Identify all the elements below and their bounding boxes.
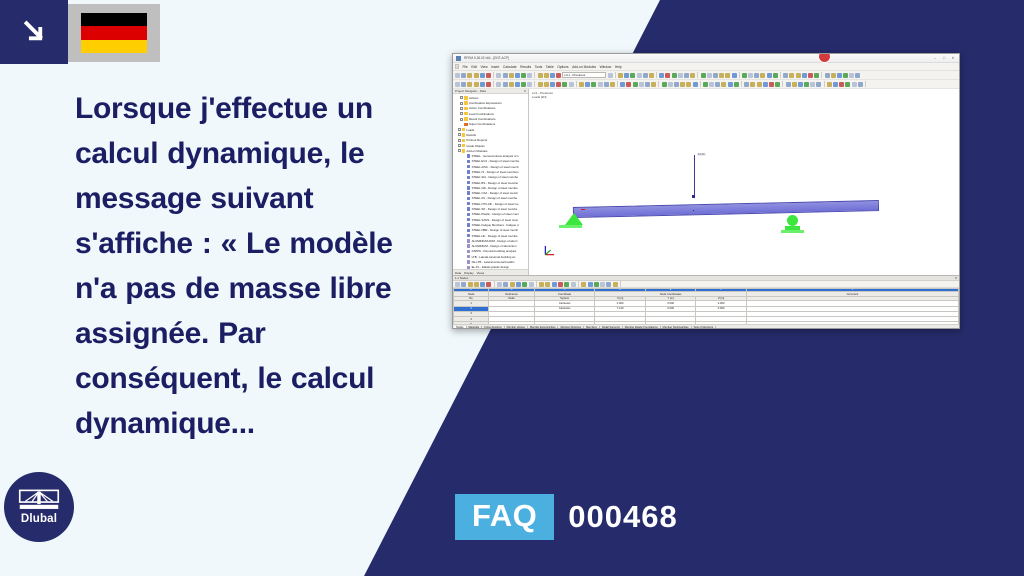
toolbar-icon-53[interactable]	[769, 82, 774, 87]
faq-number: 000468	[568, 500, 677, 534]
navigator-item-label: Super Combinations	[469, 122, 495, 126]
page-title: Lorsque j'effectue un calcul dynamique, …	[75, 86, 430, 446]
menu-item-results[interactable]: Results	[520, 65, 531, 69]
table-tab-cross-sections[interactable]: Cross-Sections	[482, 326, 505, 329]
toolbar-icon-10[interactable]	[515, 73, 520, 78]
load-arrow-shaft	[694, 155, 695, 197]
toolbar-icon-39[interactable]	[725, 73, 730, 78]
toolbar-icon-0[interactable]	[455, 73, 460, 78]
toolbar-icon-30[interactable]	[633, 82, 638, 87]
toolbar-icon-29[interactable]	[626, 82, 631, 87]
minimize-button[interactable]: –	[932, 55, 938, 61]
faq-footer: FAQ 000468	[455, 494, 678, 540]
toolbar-icon-15[interactable]	[544, 82, 549, 87]
toolbar-separator	[617, 81, 618, 87]
toolbar-icon-43[interactable]	[709, 82, 714, 87]
toolbar-separator	[782, 81, 783, 87]
table-grid[interactable]: ABCDEFF NodeReferenceCoordinateNode Coor…	[453, 288, 959, 324]
toolbar-icon-17[interactable]	[556, 82, 561, 87]
navigator-item-label: ALUMINIUM - Design of aluminium	[472, 244, 517, 248]
navigator-item-label: STEEL SANS - Design of steel mem	[472, 218, 519, 222]
toolbar-icon-1[interactable]	[461, 73, 466, 78]
toolbar-icon-15[interactable]	[545, 282, 550, 287]
navigator-item-icon	[467, 176, 470, 179]
toolbar-icon-44[interactable]	[715, 82, 720, 87]
toolbar-icon-8[interactable]	[503, 82, 508, 87]
toolbar-icon-4[interactable]	[480, 82, 485, 87]
toolbar-icon-14[interactable]	[538, 73, 543, 78]
table-tab-member-hinges[interactable]: Member Hinges	[505, 326, 528, 329]
toolbar-icon-54[interactable]	[814, 73, 819, 78]
toolbar-icon-9[interactable]	[509, 73, 514, 78]
toolbar-icon-16[interactable]	[552, 282, 557, 287]
expand-toggle-icon[interactable]	[460, 107, 463, 110]
navigator-item-icon	[462, 149, 465, 152]
navigator-item-icon	[467, 218, 470, 221]
navigator-item-icon	[467, 186, 470, 189]
toolbar-icon-31[interactable]	[678, 73, 683, 78]
toolbar-icon-11[interactable]	[521, 82, 526, 87]
navigator-item-icon	[467, 202, 470, 205]
toolbar-icon-1[interactable]	[461, 282, 466, 287]
toolbar-icon-5[interactable]	[486, 73, 491, 78]
navigator-item-label: STEEL Fatigue Members - Fatigue d	[472, 223, 519, 227]
navigator-item-icon	[464, 96, 467, 99]
menu-item-window[interactable]: Window	[600, 65, 612, 69]
table-close-icon[interactable]: ✕	[955, 276, 957, 280]
toolbar-icon-38[interactable]	[719, 73, 724, 78]
toolbar-icon-21[interactable]	[618, 73, 623, 78]
navigator-item-icon	[467, 255, 470, 258]
toolbar-icon-56[interactable]	[786, 82, 791, 87]
toolbar-icon-12[interactable]	[527, 73, 532, 78]
navigator-item-label: STEEL NBR - Design of steel memb	[472, 228, 518, 232]
expand-toggle-icon[interactable]	[460, 102, 463, 105]
toolbar-icon-23[interactable]	[591, 82, 596, 87]
toolbar-icon-63[interactable]	[827, 82, 832, 87]
toolbar-separator	[824, 81, 825, 87]
navigator-item-label: Result Combinations	[469, 117, 496, 121]
arrow-down-right-icon	[19, 17, 49, 47]
close-button[interactable]: ✕	[950, 55, 956, 61]
toolbar-icon-14[interactable]	[538, 82, 543, 87]
navigator-item-label: STEEL Plastic - Design of steel mem	[472, 212, 519, 216]
toolbar-icon-67[interactable]	[852, 82, 857, 87]
navigator-item-label: STEEL EC3 - Design of steel membe	[472, 159, 520, 163]
toolbar-icon-35[interactable]	[662, 82, 667, 87]
menu-item-table[interactable]: Table	[546, 65, 554, 69]
navigator-item-icon	[467, 197, 470, 200]
toolbar-icon-4[interactable]	[480, 282, 485, 287]
toolbar-icon-26[interactable]	[649, 73, 654, 78]
toolbar-icon-17[interactable]	[558, 282, 563, 287]
table-body: 1Cartesian0.0000.0000.0002Cartesian7.140…	[454, 301, 959, 324]
toolbar-icon-33[interactable]	[690, 73, 695, 78]
navigator-item-label: Action Combinations	[469, 106, 496, 110]
toolbar-separator	[821, 72, 822, 78]
toolbar-separator	[534, 81, 535, 87]
toolbar-icon-19[interactable]	[608, 73, 613, 78]
toolbar-icon-12[interactable]	[529, 282, 534, 287]
navigator-item-icon	[467, 260, 470, 263]
toolbar-icon-46[interactable]	[767, 73, 772, 78]
load-arrow-head	[692, 195, 695, 198]
toolbar-icon-51[interactable]	[796, 73, 801, 78]
toolbar-icon-31[interactable]	[639, 82, 644, 87]
menu-item-insert[interactable]: Insert	[491, 65, 499, 69]
toolbar-icon-16[interactable]	[550, 73, 555, 78]
expand-toggle-icon[interactable]	[460, 96, 463, 99]
navigator-item-icon	[467, 234, 470, 237]
table-tab-member-elastic-foundations[interactable]: Member Elastic Foundations	[623, 326, 661, 329]
german-flag-icon	[81, 13, 147, 53]
toolbar-icon-37[interactable]	[713, 73, 718, 78]
toolbar-icon-37[interactable]	[674, 82, 679, 87]
navigator-item-icon	[462, 139, 465, 142]
app-icon	[456, 56, 461, 61]
toolbar-icon-42[interactable]	[742, 73, 747, 78]
toolbar-separator	[576, 81, 577, 87]
toolbar-icon-7[interactable]	[496, 73, 501, 78]
toolbar-icon-11[interactable]	[521, 73, 526, 78]
navigator-item-icon	[467, 160, 470, 163]
toolbar-icon-19[interactable]	[569, 82, 574, 87]
expand-toggle-icon[interactable]	[460, 118, 463, 121]
table-tab-members[interactable]: Members	[584, 326, 600, 329]
table-tabs: NodesMaterialsCross-SectionsMember Hinge…	[453, 324, 959, 329]
nodal-support-left[interactable]	[565, 213, 583, 225]
window-titlebar: RFEM 5.26.02 x64 - [ENT-ACP] – □ ✕	[453, 54, 959, 63]
navigator-item-label: LTB - Lateral-torsional buckling an	[472, 255, 516, 259]
navigator-item-icon	[467, 181, 470, 184]
toolbar-icon-30[interactable]	[672, 73, 677, 78]
toolbar-icon-24[interactable]	[600, 282, 605, 287]
nodes-table: ABCDEFF NodeReferenceCoordinateNode Coor…	[453, 288, 959, 324]
toolbar-separator	[700, 81, 701, 87]
coordinate-axes-icon	[543, 243, 557, 257]
toolbar-icon-49[interactable]	[744, 82, 749, 87]
toolbar-icon-9[interactable]	[510, 282, 515, 287]
dlubal-logo[interactable]: Dlubal	[4, 472, 74, 542]
navigator-item-icon	[467, 191, 470, 194]
toolbar-icon-53[interactable]	[808, 73, 813, 78]
toolbar-icon-7[interactable]	[497, 282, 502, 287]
toolbar-separator	[534, 72, 535, 78]
navigator-tab-views[interactable]: Views	[477, 271, 485, 275]
toolbar-icon-16[interactable]	[550, 82, 555, 87]
toolbar-separator	[741, 81, 742, 87]
toolbar-icon-43[interactable]	[748, 73, 753, 78]
project-navigator: Project Navigator - Data ✕ ActionsCombin…	[453, 89, 529, 275]
toolbar-icon-51[interactable]	[757, 82, 762, 87]
table-tab-sets-of-members[interactable]: Sets of Members	[692, 326, 717, 329]
toolbar-icon-46[interactable]	[728, 82, 733, 87]
navigator-item-icon	[467, 207, 470, 210]
toolbar-icon-17[interactable]	[556, 73, 561, 78]
toolbar-icon-59[interactable]	[804, 82, 809, 87]
nodal-support-right[interactable]	[787, 215, 804, 233]
toolbar-icon-29[interactable]	[665, 73, 670, 78]
navigator-item-label: ALUMINIUM ADM - Design of alumi	[472, 239, 518, 243]
toolbar-icon-23[interactable]	[630, 73, 635, 78]
expand-toggle-icon[interactable]	[458, 149, 461, 152]
toolbar-icon-5[interactable]	[486, 82, 491, 87]
toolbar-icon-33[interactable]	[651, 82, 656, 87]
navigator-item-label: Results	[466, 133, 476, 137]
toolbar-icon-3[interactable]	[474, 82, 479, 87]
toolbar-icon-50[interactable]	[750, 82, 755, 87]
toolbar-icon-47[interactable]	[773, 73, 778, 78]
navigator-item-icon	[467, 223, 470, 226]
navigator-item-label: STEEL - General stress analysis of s	[472, 154, 519, 158]
toolbar-icon-5[interactable]	[486, 282, 491, 287]
toolbar-icon-8[interactable]	[503, 282, 508, 287]
menu-item-options[interactable]: Options	[557, 65, 568, 69]
toolbar-icon-2[interactable]	[467, 82, 472, 87]
toolbar-icon-56[interactable]	[825, 73, 830, 78]
navigator-tree[interactable]: ActionsCombination ExpressionsAction Com…	[453, 94, 528, 269]
model-canvas[interactable]: LC1 - Prestress Loads [kN] 10.00	[529, 89, 959, 275]
toolbar-icon-32[interactable]	[684, 73, 689, 78]
toolbar-icon-44[interactable]	[754, 73, 759, 78]
toolbar-icon-3[interactable]	[474, 73, 479, 78]
toolbar-icon-23[interactable]	[594, 282, 599, 287]
toolbar-icon-58[interactable]	[798, 82, 803, 87]
navigator-item-icon	[464, 123, 467, 126]
flag-band-red	[81, 26, 147, 39]
table-panel: 1.1 Nodes ✕ ABCDEFF NodeReferenceCoordin…	[453, 275, 959, 329]
member-orientation-marker	[581, 209, 585, 210]
navigator-item-icon	[464, 101, 467, 104]
flag-band-gold	[81, 40, 147, 53]
navigator-item-label: STEEL SIA - Design of steel membe	[472, 175, 518, 179]
toolbar-separator	[494, 281, 495, 287]
toolbar-icon-25[interactable]	[604, 82, 609, 87]
toolbar-icon-28[interactable]	[620, 82, 625, 87]
toolbar-icon-24[interactable]	[637, 73, 642, 78]
toolbar-icon-22[interactable]	[624, 73, 629, 78]
navigator-item-icon	[467, 213, 470, 216]
navigator-item-icon	[467, 154, 470, 157]
toolbar-icon-4[interactable]	[480, 73, 485, 78]
toolbar-icon-61[interactable]	[855, 73, 860, 78]
toolbar-icon-12[interactable]	[527, 82, 532, 87]
table-tab-member-nonlinearities[interactable]: Member Nonlinearities	[661, 326, 692, 329]
toolbar-icon-1[interactable]	[461, 82, 466, 87]
toolbar-icon-36[interactable]	[668, 82, 673, 87]
navigator-item-icon	[462, 133, 465, 136]
toolbar-icon-40[interactable]	[693, 82, 698, 87]
toolbar-separator	[697, 72, 698, 78]
navigator-item-label: Load Combinations	[469, 112, 494, 116]
flag-band-black	[81, 13, 147, 26]
menu-grip[interactable]	[455, 64, 459, 69]
toolbar-separator	[780, 72, 781, 78]
menu-item-edit[interactable]: Edit	[471, 65, 477, 69]
navigator-close-icon[interactable]: ✕	[524, 89, 526, 93]
toolbar-icon-2[interactable]	[468, 282, 473, 287]
toolbar-icon-18[interactable]	[562, 82, 567, 87]
expand-toggle-icon[interactable]	[458, 128, 461, 131]
navigator-item-label: STEEL SP - Design of steel membe	[472, 207, 518, 211]
expand-toggle-icon[interactable]	[458, 133, 461, 136]
navigator-item-label: STEEL IS - Design of steel members	[472, 170, 519, 174]
toolbar-icon-10[interactable]	[515, 82, 520, 87]
toolbar-icon-2[interactable]	[467, 73, 472, 78]
navigator-item-label: Actions	[469, 96, 478, 100]
navigator-item-icon	[462, 144, 465, 147]
toolbar-separator	[865, 81, 866, 87]
toolbar-separator	[615, 72, 616, 78]
toolbar-icon-57[interactable]	[792, 82, 797, 87]
navigator-item-icon	[467, 244, 470, 247]
logo-text: Dlubal	[21, 513, 57, 525]
navigator-item-icon	[467, 239, 470, 242]
toolbar-icon-54[interactable]	[775, 82, 780, 87]
table-tab-materials[interactable]: Materials	[467, 326, 483, 329]
toolbar-icon-21[interactable]	[581, 282, 586, 287]
navigator-item-icon	[464, 112, 467, 115]
toolbar-icon-25[interactable]	[606, 282, 611, 287]
toolbar-icon-9[interactable]	[509, 82, 514, 87]
toolbar-icon-22[interactable]	[585, 82, 590, 87]
toolbar-icon-28[interactable]	[659, 73, 664, 78]
toolbar-separator	[656, 72, 657, 78]
navigator-item-icon	[467, 170, 470, 173]
toolbar-icon-32[interactable]	[645, 82, 650, 87]
toolbar-icon-25[interactable]	[643, 73, 648, 78]
menu-item-view[interactable]: View	[481, 65, 488, 69]
toolbar-icon-50[interactable]	[789, 73, 794, 78]
toolbar-icon-57[interactable]	[831, 73, 836, 78]
rfem-application-window: RFEM 5.26.02 x64 - [ENT-ACP] – □ ✕ FileE…	[452, 53, 960, 329]
toolbar-icon-14[interactable]	[539, 282, 544, 287]
toolbar-icon-11[interactable]	[522, 282, 527, 287]
toolbar-icon-36[interactable]	[707, 73, 712, 78]
navigator-item-label: STEEL AISC - Design of steel memb	[472, 165, 519, 169]
load-value-label: 10.00	[697, 153, 706, 156]
navigator-item-label: STEEL GB - Design of steel membe	[472, 186, 518, 190]
toolbar-icon-64[interactable]	[833, 82, 838, 87]
toolbar-icon-59[interactable]	[843, 73, 848, 78]
window-title: RFEM 5.26.02 x64 - [ENT-ACP]	[464, 56, 509, 60]
canvas-loadcase-label: LC1 - Prestress Loads [kN]	[532, 91, 553, 99]
table-tab-member-eccentricities[interactable]: Member Eccentricities	[528, 326, 559, 329]
toolbar-icon-7[interactable]	[496, 82, 501, 87]
navigator-item-label: STEEL HK - Design of steel membe	[472, 234, 518, 238]
navigator-item-label: STEEL NTC-DF - Design of steel me	[472, 202, 519, 206]
toolbar-icon-8[interactable]	[503, 73, 508, 78]
menu-item-file[interactable]: File	[463, 65, 468, 69]
table-head: ABCDEFF NodeReferenceCoordinateNode Coor…	[454, 289, 959, 301]
navigator-item-icon	[464, 117, 467, 120]
toolbar-icon-66[interactable]	[845, 82, 850, 87]
toolbar-icon-0[interactable]	[455, 282, 460, 287]
toolbar-icon-42[interactable]	[703, 82, 708, 87]
toolbar-icon-3[interactable]	[474, 282, 479, 287]
loadcase-combobox[interactable]: LC1 - Prestress	[562, 72, 606, 78]
toolbar-icon-58[interactable]	[837, 73, 842, 78]
download-arrow-badge[interactable]	[0, 0, 68, 64]
toolbar-separator	[658, 81, 659, 87]
toolbar-icon-65[interactable]	[839, 82, 844, 87]
toolbar-icon-40[interactable]	[732, 73, 737, 78]
toolbar-icon-52[interactable]	[763, 82, 768, 87]
beam-member[interactable]	[573, 200, 879, 218]
canvas-label-line2: Loads [kN]	[532, 95, 553, 99]
expand-toggle-icon[interactable]	[458, 144, 461, 147]
expand-toggle-icon[interactable]	[458, 139, 461, 142]
truss-icon	[18, 489, 60, 511]
toolbar-icon-38[interactable]	[680, 82, 685, 87]
menu-item-help[interactable]: Help	[615, 65, 622, 69]
toolbar-icon-49[interactable]	[783, 73, 788, 78]
support-base	[781, 230, 804, 233]
toolbar-icon-60[interactable]	[849, 73, 854, 78]
navigator-tab-display[interactable]: Display	[464, 271, 473, 275]
navigator-tab-data[interactable]: Data	[455, 271, 461, 275]
toolbar-icon-24[interactable]	[598, 82, 603, 87]
navigator-item-icon	[464, 107, 467, 110]
navigator-item-label: Combination Expressions	[469, 101, 502, 105]
toolbar-icon-18[interactable]	[564, 282, 569, 287]
toolbar-icon-26[interactable]	[613, 282, 618, 287]
toolbar-icon-45[interactable]	[760, 73, 765, 78]
menu-item-calculate[interactable]: Calculate	[503, 65, 517, 69]
table-toolbar	[453, 281, 959, 288]
navigator-item-icon	[467, 250, 470, 253]
table-tab-nodal-supports[interactable]: Nodal Supports	[600, 326, 623, 329]
maximize-button[interactable]: □	[941, 55, 947, 61]
menu-bar: FileEditViewInsertCalculateResultsToolsT…	[453, 63, 959, 71]
table-title: 1.1 Nodes	[455, 276, 468, 280]
toolbar-icon-52[interactable]	[802, 73, 807, 78]
navigator-tabs: DataDisplayViews	[453, 269, 528, 275]
toolbar-icon-21[interactable]	[579, 82, 584, 87]
toolbar-icon-19[interactable]	[571, 282, 576, 287]
navigator-item-label: KAPPA - Flexural buckling analysis	[472, 249, 517, 253]
toolbar-separator	[493, 72, 494, 78]
toolbar-icon-15[interactable]	[544, 73, 549, 78]
table-tab-nodes[interactable]: Nodes	[454, 326, 467, 329]
toolbar-icon-35[interactable]	[701, 73, 706, 78]
nodal-support-left-base	[559, 225, 582, 228]
toolbar-icon-45[interactable]	[721, 82, 726, 87]
navigator-item-label: STEEL AS - Design of steel membe	[472, 196, 518, 200]
navigator-item-label: Add-on Modules	[466, 149, 487, 153]
window-body: Project Navigator - Data ✕ ActionsCombin…	[453, 89, 959, 275]
toolbar-icon-22[interactable]	[588, 282, 593, 287]
menu-item-add-on-modules[interactable]: Add-on Modules	[572, 65, 596, 69]
toolbar-separator	[578, 281, 579, 287]
toolbar-icon-68[interactable]	[858, 82, 863, 87]
toolbar-icon-26[interactable]	[610, 82, 615, 87]
toolbar-icon-39[interactable]	[686, 82, 691, 87]
toolbar-separator	[493, 81, 494, 87]
toolbar-icon-10[interactable]	[516, 282, 521, 287]
menu-item-tools[interactable]: Tools	[535, 65, 543, 69]
toolbar-icon-0[interactable]	[455, 82, 460, 87]
navigator-item-icon	[462, 128, 465, 131]
language-flag-badge[interactable]	[68, 4, 160, 62]
expand-toggle-icon[interactable]	[460, 112, 463, 115]
toolbar-icon-61[interactable]	[816, 82, 821, 87]
table-tab-member-divisions[interactable]: Member Divisions	[558, 326, 584, 329]
toolbar-icon-47[interactable]	[734, 82, 739, 87]
toolbar-icon-60[interactable]	[810, 82, 815, 87]
secondary-toolbar	[453, 80, 959, 89]
navigator-item-label: Loads	[466, 128, 474, 132]
